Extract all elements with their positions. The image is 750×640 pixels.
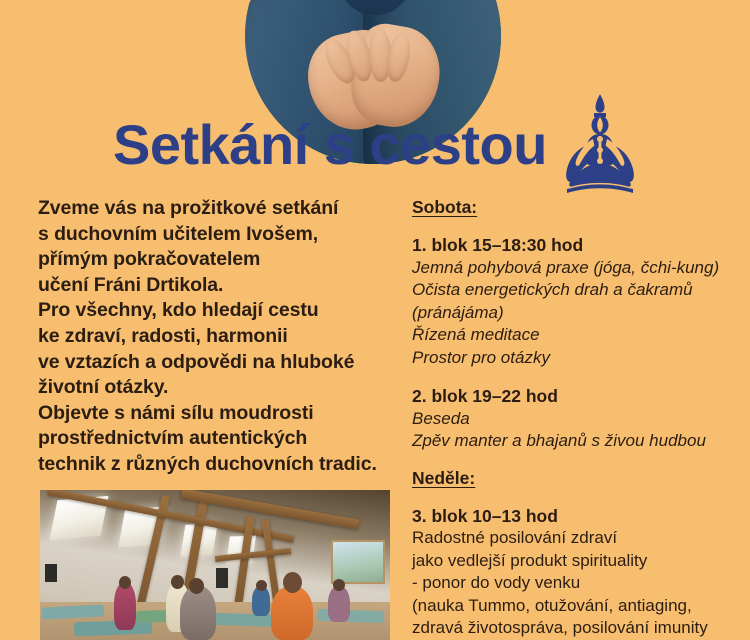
block-line: (nauka Tummo, otužování, antiaging, bbox=[412, 595, 742, 618]
block-line: Jemná pohybová praxe (jóga, čchi-kung) bbox=[412, 257, 742, 280]
participant bbox=[328, 586, 350, 622]
day-heading-saturday: Sobota: bbox=[412, 196, 742, 218]
invitation-line: ke zdraví, radosti, harmonii bbox=[38, 324, 403, 350]
participant-head bbox=[189, 578, 204, 594]
block-line: Radostné posilování zdraví bbox=[412, 527, 742, 550]
invitation-line: životní otázky. bbox=[38, 375, 403, 401]
wall-speaker-left bbox=[45, 564, 57, 582]
wall-speaker-right bbox=[216, 568, 228, 588]
day-heading-sunday: Neděle: bbox=[412, 467, 742, 489]
workshop-photo bbox=[40, 490, 390, 640]
invitation-column: Zveme vás na prožitkové setkání s duchov… bbox=[38, 196, 403, 478]
participant bbox=[180, 586, 216, 640]
block-line: zdravá životospráva, posilování imunity bbox=[412, 617, 742, 640]
schedule-column: Sobota: 1. blok 15–18:30 hod Jemná pohyb… bbox=[412, 196, 742, 640]
title-row: Setkání s cestou bbox=[0, 105, 750, 185]
participant bbox=[114, 582, 136, 630]
invitation-text: Zveme vás na prožitkové setkání s duchov… bbox=[38, 196, 403, 478]
schedule-block: 2. blok 19–22 hod Beseda Zpěv manter a b… bbox=[412, 385, 742, 453]
invitation-line: s duchovním učitelem Ivošem, bbox=[38, 222, 403, 248]
poster-root: { "poster": { "title": "Setkání s cestou… bbox=[0, 0, 750, 630]
block-line: - ponor do vody venku bbox=[412, 572, 742, 595]
block-line: (pránájáma) bbox=[412, 302, 742, 325]
invitation-line: Objevte s námi sílu moudrosti bbox=[38, 401, 403, 427]
poster-title: Setkání s cestou bbox=[113, 117, 547, 173]
side-window bbox=[331, 540, 385, 584]
invitation-line: Zveme vás na prožitkové setkání bbox=[38, 196, 403, 222]
block-line: Očista energetických drah a čakramů bbox=[412, 279, 742, 302]
block-line: jako vedlejší produkt spirituality bbox=[412, 550, 742, 573]
participant-foreground bbox=[271, 586, 313, 640]
invitation-line: Pro všechny, kdo hledají cestu bbox=[38, 298, 403, 324]
block-time: 2. blok 19–22 hod bbox=[412, 385, 742, 408]
participant-head bbox=[256, 580, 267, 591]
block-time: 3. blok 10–13 hod bbox=[412, 505, 742, 528]
block-line: Zpěv manter a bhajanů s živou hudbou bbox=[412, 430, 742, 453]
section-spacer bbox=[412, 453, 742, 467]
participant-head bbox=[171, 575, 184, 589]
invitation-line: přímým pokračovatelem bbox=[38, 247, 403, 273]
participant-head bbox=[333, 579, 345, 591]
invitation-line: ve vztazích a odpovědi na hluboké bbox=[38, 350, 403, 376]
participant-head bbox=[283, 572, 302, 593]
participant-head bbox=[119, 576, 131, 589]
block-line: Prostor pro otázky bbox=[412, 347, 742, 370]
invitation-line: učení Fráni Drtikola. bbox=[38, 273, 403, 299]
invitation-line: prostřednictvím autentických bbox=[38, 426, 403, 452]
meditating-figure-icon bbox=[563, 93, 637, 193]
schedule-block: 1. blok 15–18:30 hod Jemná pohybová prax… bbox=[412, 234, 742, 369]
block-line: Beseda bbox=[412, 408, 742, 431]
schedule-block: 3. blok 10–13 hod Radostné posilování zd… bbox=[412, 505, 742, 640]
block-line: Řízená meditace bbox=[412, 324, 742, 347]
block-time: 1. blok 15–18:30 hod bbox=[412, 234, 742, 257]
invitation-line: technik z různých duchovních tradic. bbox=[38, 452, 403, 478]
